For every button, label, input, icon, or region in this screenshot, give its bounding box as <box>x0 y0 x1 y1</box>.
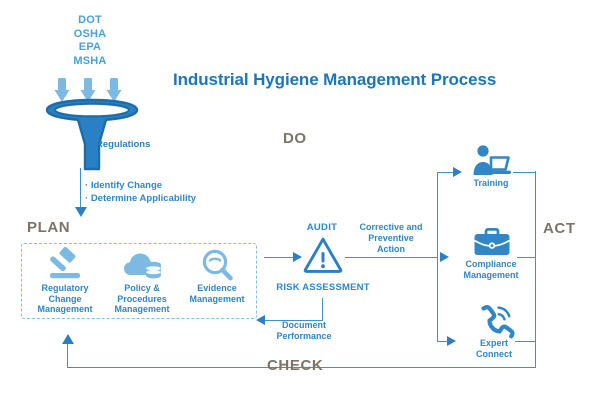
plan-tile-label-1: Regulatory Change Management <box>28 283 102 315</box>
connector-trunk-to-expert-arrowhead <box>447 336 456 346</box>
funnel-label: Regulations <box>96 139 150 150</box>
act-distribution-trunk <box>437 172 438 341</box>
connector-funnel-to-plan <box>80 168 81 209</box>
phase-label-do: DO <box>283 130 307 147</box>
training-person-laptop-icon <box>472 145 512 177</box>
act-node-label-training: Training <box>460 178 522 189</box>
collector-from-training <box>513 172 536 173</box>
gavel-icon <box>47 249 85 281</box>
phase-label-act: ACT <box>543 220 576 237</box>
risk-assessment-label: RISK ASSESSMENT <box>276 282 370 293</box>
collector-from-compliance <box>517 257 536 258</box>
phone-signal-icon <box>476 305 514 337</box>
plan-tile-evidence-management[interactable]: Evidence Management <box>180 249 254 304</box>
industrial-hygiene-process-diagram: DOT OSHA EPA MSHA Regulations <box>0 0 600 401</box>
warning-triangle-icon <box>303 237 343 273</box>
audit-label: AUDIT <box>294 222 350 233</box>
agency-label-epa: EPA <box>52 41 128 55</box>
cloud-data-icon <box>124 251 162 281</box>
act-node-expert-connect[interactable]: Expert Connect <box>462 305 526 359</box>
edge-label-document-performance: Document Performance <box>264 320 344 342</box>
connector-audit-to-act-trunk <box>345 257 438 258</box>
regulation-step-identify-change: Identify Change <box>85 179 196 192</box>
agency-label-msha: MSHA <box>52 55 128 69</box>
plan-tile-label-2: Policy & Procedures Management <box>105 283 179 315</box>
act-node-label-compliance: Compliance Management <box>455 259 527 280</box>
regulation-step-determine-applicability: Determine Applicability <box>85 192 196 205</box>
magnifier-icon <box>201 249 235 281</box>
phase-label-check: CHECK <box>267 357 323 374</box>
agency-input-list: DOT OSHA EPA MSHA <box>52 14 128 68</box>
funnel-icon <box>44 99 140 173</box>
briefcase-icon <box>473 227 511 257</box>
page-title: Industrial Hygiene Management Process <box>173 70 496 90</box>
edge-label-corrective-preventive-action: Corrective and Preventive Action <box>352 222 430 255</box>
act-node-training[interactable]: Training <box>460 145 522 189</box>
plan-tile-label-3: Evidence Management <box>180 283 254 304</box>
plan-tile-regulatory-change-management[interactable]: Regulatory Change Management <box>28 249 102 315</box>
regulation-steps: Identify Change Determine Applicability <box>85 179 196 205</box>
plan-tile-policy-procedures-management[interactable]: Policy & Procedures Management <box>105 249 179 315</box>
connector-trunk-to-compliance-arrowhead <box>440 252 449 262</box>
connector-plan-to-audit <box>264 257 295 258</box>
act-collector-trunk <box>535 171 536 368</box>
agency-label-dot: DOT <box>52 14 128 28</box>
collector-from-expert <box>515 341 536 342</box>
check-return-riser <box>67 343 68 367</box>
act-node-compliance-management[interactable]: Compliance Management <box>455 227 527 280</box>
connector-plan-to-audit-arrowhead <box>293 252 302 262</box>
agency-label-osha: OSHA <box>52 28 128 42</box>
phase-label-plan: PLAN <box>27 219 70 236</box>
connector-audit-to-document <box>322 298 323 321</box>
connector-funnel-to-plan-arrowhead <box>75 207 87 217</box>
check-return-arrowhead <box>62 334 74 344</box>
